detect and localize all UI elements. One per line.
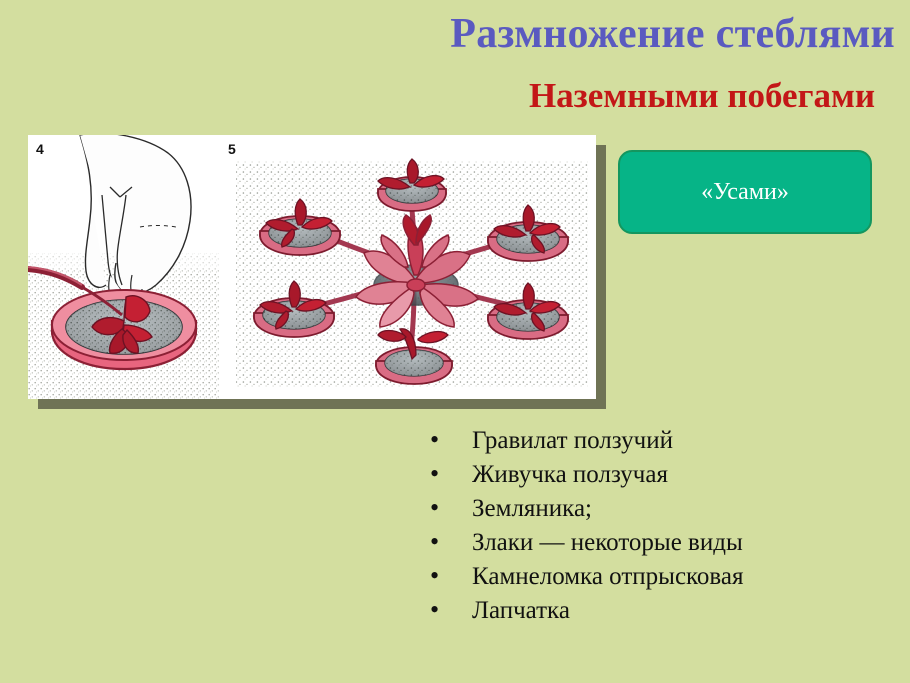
list-item-label: Земляника; bbox=[472, 495, 592, 523]
plant-list: • Гравилат ползучий • Живучка ползучая •… bbox=[430, 427, 890, 631]
bullet-icon: • bbox=[430, 495, 472, 521]
bullet-icon: • bbox=[430, 529, 472, 555]
list-item-label: Злаки — некоторые виды bbox=[472, 529, 743, 557]
list-item: • Камнеломка отпрысковая bbox=[430, 563, 890, 597]
list-item: • Злаки — некоторые виды bbox=[430, 529, 890, 563]
bullet-icon: • bbox=[430, 597, 472, 623]
list-item: • Земляника; bbox=[430, 495, 890, 529]
callout-usami[interactable]: «Усами» bbox=[618, 150, 872, 234]
list-item: • Лапчатка bbox=[430, 597, 890, 631]
panel-5-artwork bbox=[228, 135, 596, 399]
panel-number-5: 5 bbox=[228, 141, 236, 157]
list-item: • Гравилат ползучий bbox=[430, 427, 890, 461]
bullet-icon: • bbox=[430, 461, 472, 487]
figure-panel-5: 5 bbox=[228, 135, 596, 399]
figure-illustration: 4 bbox=[28, 135, 596, 399]
page-title: Размножение стеблями bbox=[0, 12, 895, 56]
bullet-icon: • bbox=[430, 427, 472, 453]
list-item-label: Лапчатка bbox=[472, 597, 570, 625]
panel-4-artwork bbox=[28, 135, 220, 399]
list-item-label: Живучка ползучая bbox=[472, 461, 668, 489]
figure-canvas: 4 bbox=[28, 135, 596, 399]
figure-panel-4: 4 bbox=[28, 135, 220, 399]
bullet-icon: • bbox=[430, 563, 472, 589]
list-item-label: Гравилат ползучий bbox=[472, 427, 673, 455]
slide-root: Размножение стеблями Наземными побегами … bbox=[0, 0, 910, 683]
panel-number-4: 4 bbox=[36, 141, 44, 157]
page-subtitle: Наземными побегами bbox=[0, 78, 875, 115]
callout-label: «Усами» bbox=[701, 179, 789, 206]
list-item-label: Камнеломка отпрысковая bbox=[472, 563, 743, 591]
list-item: • Живучка ползучая bbox=[430, 461, 890, 495]
